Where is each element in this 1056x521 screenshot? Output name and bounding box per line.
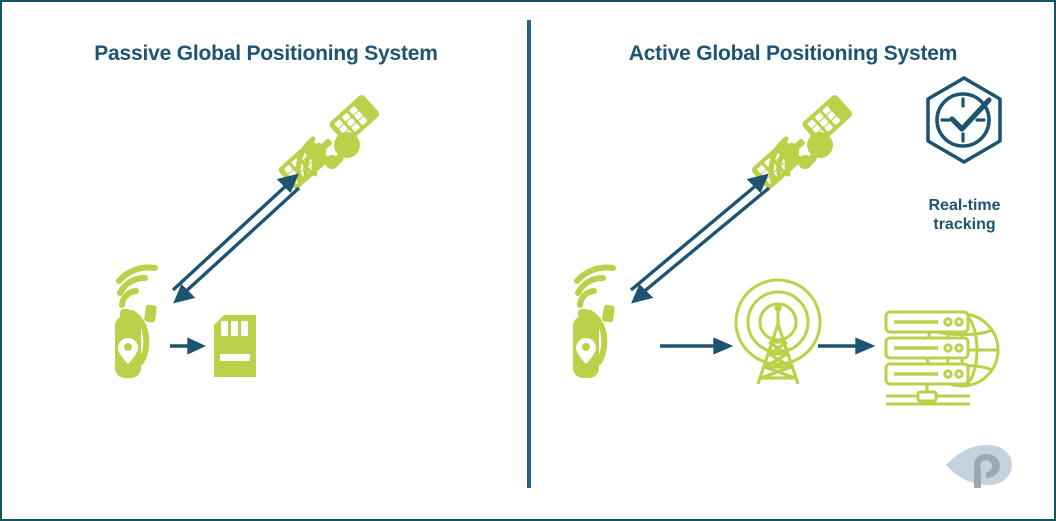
realtime-label-line2: tracking bbox=[882, 216, 1047, 235]
arrow-tracker-to-sdcard bbox=[170, 340, 202, 352]
arrow-satellite-to-tracker bbox=[634, 188, 769, 301]
sd-card-icon bbox=[214, 315, 256, 377]
arrow-tower-to-server bbox=[818, 340, 871, 352]
cell-tower-icon bbox=[736, 280, 820, 384]
realtime-tracking-label: Real-time tracking bbox=[882, 197, 1047, 235]
arrow-tracker-to-satellite bbox=[173, 176, 296, 290]
panel-divider bbox=[527, 20, 531, 488]
gps-tracker-icon bbox=[573, 267, 615, 378]
passive-panel-graphics bbox=[2, 2, 530, 521]
server-globe-icon bbox=[886, 312, 998, 404]
clock-check-hexagon-icon bbox=[928, 78, 1000, 162]
arrow-tracker-to-tower bbox=[660, 340, 729, 352]
arrow-satellite-to-tracker bbox=[176, 188, 299, 301]
diagram-canvas: Passive Global Positioning System bbox=[0, 0, 1056, 521]
pin-p-logo bbox=[940, 440, 1020, 490]
gps-tracker-icon bbox=[115, 267, 157, 378]
arrow-tracker-to-satellite bbox=[631, 176, 766, 290]
panel-passive-gps: Passive Global Positioning System bbox=[2, 2, 530, 519]
realtime-label-line1: Real-time bbox=[882, 197, 1047, 216]
